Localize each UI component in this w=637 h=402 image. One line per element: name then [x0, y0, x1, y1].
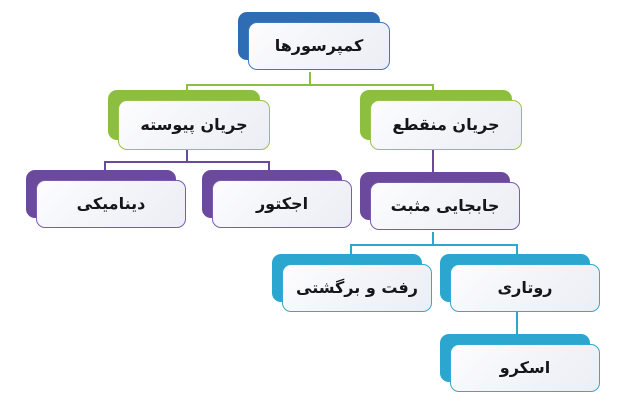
node-compressors-label: کمپرسورها [269, 37, 370, 55]
node-ejector-face: اجکتور [212, 180, 352, 228]
edge-continuous-flow-stem [186, 150, 188, 161]
node-continuous-flow[interactable]: جریان پیوسته [108, 90, 260, 140]
node-reciprocating[interactable]: رفت و برگشتی [272, 254, 422, 302]
node-continuous-flow-label: جریان پیوسته [134, 116, 253, 134]
node-intermittent-flow-label: جریان منقطع [386, 116, 505, 134]
node-screw-face: اسکرو [450, 344, 600, 392]
node-reciprocating-label: رفت و برگشتی [290, 279, 424, 297]
node-positive-displacement[interactable]: جابجایی مثبت [360, 172, 510, 220]
node-dynamic-label: دینامیکی [71, 195, 152, 213]
node-screw[interactable]: اسکرو [440, 334, 590, 382]
node-positive-displacement-label: جابجایی مثبت [385, 197, 506, 215]
edge-root-stem [309, 72, 311, 84]
node-rotary[interactable]: روتاری [440, 254, 590, 302]
node-rotary-label: روتاری [491, 279, 558, 297]
node-rotary-face: روتاری [450, 264, 600, 312]
node-intermittent-flow-face: جریان منقطع [370, 100, 522, 150]
node-continuous-flow-face: جریان پیوسته [118, 100, 270, 150]
node-compressors[interactable]: کمپرسورها [238, 12, 380, 60]
node-dynamic-face: دینامیکی [36, 180, 186, 228]
edge-root-bus [186, 84, 432, 86]
edge-rotary-to-screw [516, 311, 518, 335]
node-ejector-label: اجکتور [250, 195, 314, 213]
diagram-canvas: کمپرسورها جریان پیوسته جریان منقطع دینام… [0, 0, 637, 402]
edge-continuous-flow-bus [104, 161, 268, 163]
node-ejector[interactable]: اجکتور [202, 170, 342, 218]
node-screw-label: اسکرو [494, 359, 556, 377]
node-reciprocating-face: رفت و برگشتی [282, 264, 432, 312]
node-intermittent-flow[interactable]: جریان منقطع [360, 90, 512, 140]
edge-positive-displacement-stem [432, 232, 434, 244]
node-compressors-face: کمپرسورها [248, 22, 390, 70]
node-dynamic[interactable]: دینامیکی [26, 170, 176, 218]
edge-positive-displacement-bus [350, 244, 516, 246]
node-positive-displacement-face: جابجایی مثبت [370, 182, 520, 230]
